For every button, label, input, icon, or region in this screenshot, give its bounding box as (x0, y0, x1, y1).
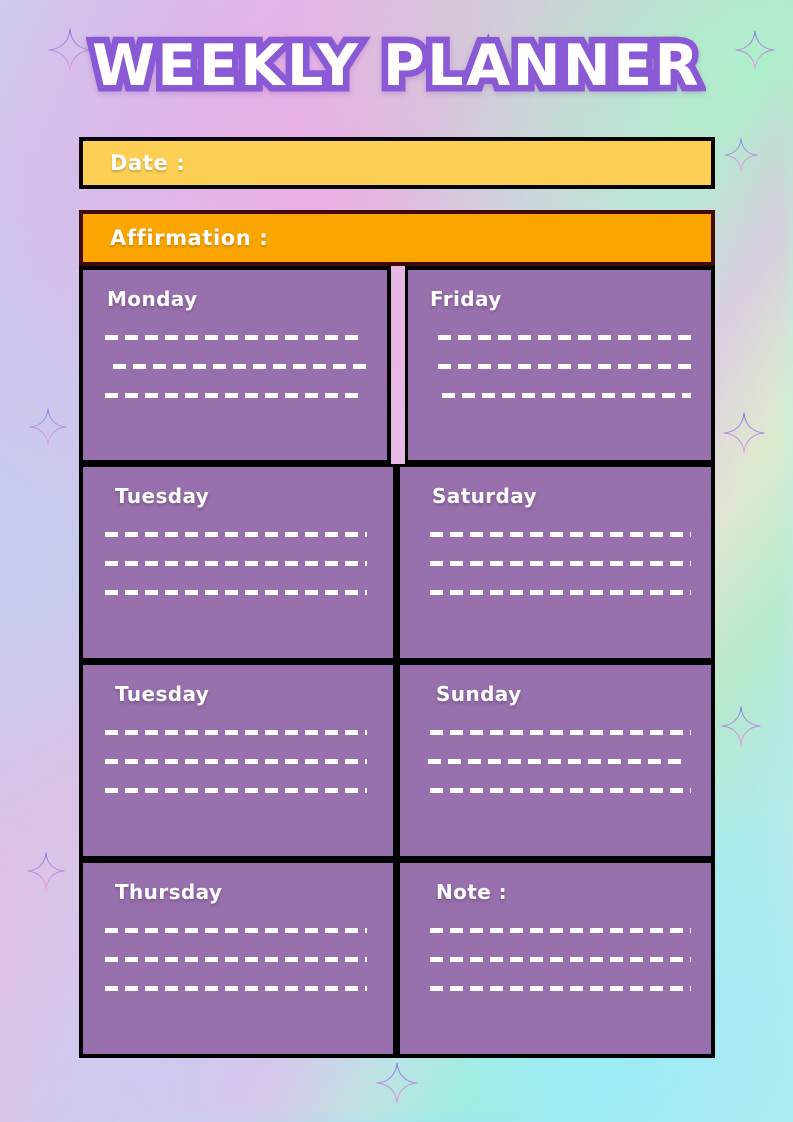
write-lines-tuesday[interactable] (105, 532, 373, 595)
day-cell-monday[interactable]: Monday (79, 266, 391, 464)
write-line[interactable] (105, 759, 367, 764)
day-label-monday: Monday (107, 287, 367, 311)
write-line[interactable] (430, 957, 691, 962)
day-cell-sunday[interactable]: Sunday (397, 662, 715, 860)
write-line[interactable] (105, 730, 367, 735)
write-line[interactable] (105, 986, 367, 991)
affirmation-bar[interactable]: Affirmation : (79, 210, 715, 266)
write-line[interactable] (105, 928, 367, 933)
write-lines-monday[interactable] (105, 335, 367, 398)
day-label-sunday: Sunday (436, 682, 691, 706)
write-line[interactable] (105, 335, 361, 340)
planner-sheet: Date : Affirmation : Monday Friday Tuesd… (79, 137, 715, 1058)
write-lines-note[interactable] (422, 928, 691, 991)
write-line[interactable] (105, 561, 367, 566)
write-line[interactable] (428, 759, 687, 764)
write-line[interactable] (430, 788, 691, 793)
date-bar-label: Date : (110, 151, 185, 175)
write-line[interactable] (430, 986, 691, 991)
write-lines-saturday[interactable] (422, 532, 691, 595)
write-line[interactable] (430, 730, 691, 735)
day-cell-tuesday[interactable]: Tuesday (79, 464, 397, 662)
day-label-wednesday: Tuesday (115, 682, 373, 706)
day-label-friday: Friday (430, 287, 691, 311)
write-line[interactable] (430, 561, 691, 566)
day-cell-wednesday[interactable]: Tuesday (79, 662, 397, 860)
write-lines-friday[interactable] (430, 335, 691, 398)
date-bar[interactable]: Date : (79, 137, 715, 189)
write-line[interactable] (430, 532, 691, 537)
write-line[interactable] (438, 364, 691, 369)
note-cell[interactable]: Note : (397, 860, 715, 1058)
write-line[interactable] (105, 393, 361, 398)
day-grid: Monday Friday Tuesday Satu (79, 266, 715, 1058)
day-cell-thursday[interactable]: Thursday (79, 860, 397, 1058)
day-label-saturday: Saturday (432, 484, 691, 508)
write-line[interactable] (105, 532, 367, 537)
write-line[interactable] (105, 957, 367, 962)
write-line[interactable] (442, 393, 691, 398)
write-line[interactable] (438, 335, 691, 340)
note-label: Note : (436, 880, 691, 904)
write-line[interactable] (105, 590, 367, 595)
day-label-thursday: Thursday (115, 880, 373, 904)
write-line[interactable] (113, 364, 367, 369)
day-label-tuesday: Tuesday (115, 484, 373, 508)
day-cell-saturday[interactable]: Saturday (397, 464, 715, 662)
write-lines-sunday[interactable] (422, 730, 691, 793)
page-title-wrapper: WEEKLY PLANNER (0, 36, 793, 98)
page-title: WEEKLY PLANNER (92, 36, 701, 98)
day-cell-friday[interactable]: Friday (405, 266, 715, 464)
write-line[interactable] (430, 590, 691, 595)
write-line[interactable] (105, 788, 367, 793)
write-line[interactable] (430, 928, 691, 933)
write-lines-thursday[interactable] (105, 928, 373, 991)
write-lines-wednesday[interactable] (105, 730, 373, 793)
affirmation-bar-label: Affirmation : (110, 226, 268, 250)
